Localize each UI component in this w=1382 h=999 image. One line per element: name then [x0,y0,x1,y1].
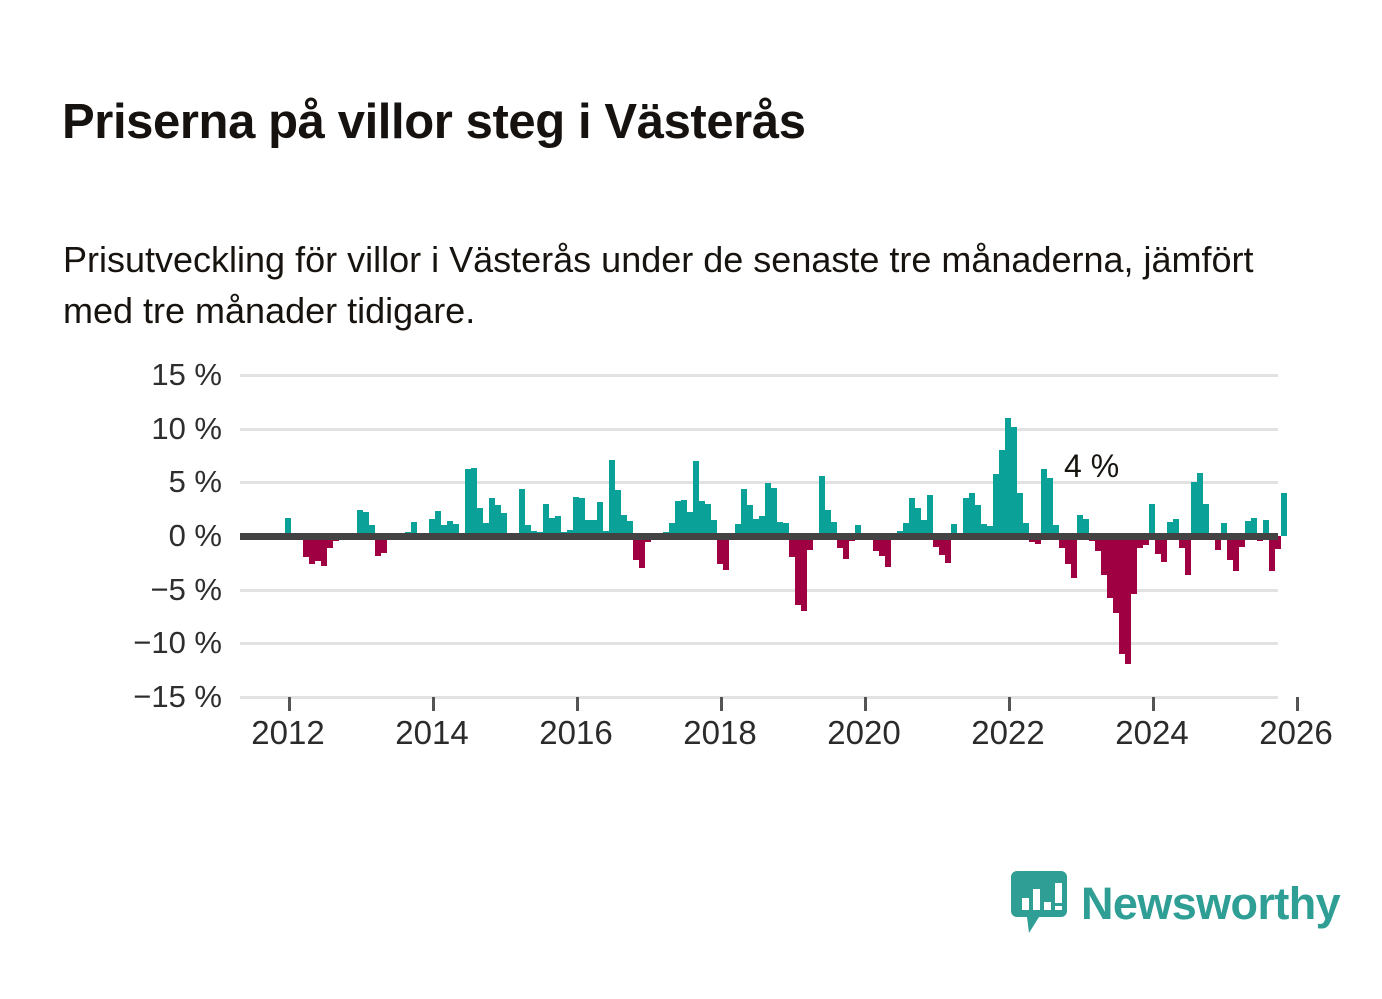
y-axis-tick-label: −15 % [92,679,222,715]
chart-bar [885,536,891,567]
chart-bar [945,536,951,563]
x-axis-tick-label: 2014 [395,714,468,752]
x-axis-tick-label: 2024 [1115,714,1188,752]
x-axis-tick [864,697,867,711]
x-axis-tick-label: 2026 [1259,714,1332,752]
bar-chart-speech-bubble-icon [1011,871,1067,935]
x-axis-tick-label: 2020 [827,714,900,752]
last-value-annotation: 4 % [1064,448,1119,485]
x-axis-tick [432,697,435,711]
gridline [240,696,1278,699]
y-axis-tick-label: 5 % [92,464,222,500]
x-axis-tick-label: 2012 [251,714,324,752]
x-axis-tick [1152,697,1155,711]
y-axis-tick-label: 10 % [92,411,222,447]
bar-chart: 15 %10 %5 %0 %−5 %−10 %−15 %201220142016… [0,0,1382,999]
x-axis-tick [288,697,291,711]
x-axis-tick [1296,697,1299,711]
chart-bar [1149,504,1155,536]
x-axis-tick-label: 2016 [539,714,612,752]
chart-bar [1185,536,1191,575]
gridline [240,428,1278,431]
gridline [240,481,1278,484]
x-axis-tick [720,697,723,711]
chart-plot-area [240,375,1278,697]
newsworthy-logo: Newsworthy [1011,871,1340,935]
chart-bar [1281,493,1287,536]
chart-bar [1203,504,1209,536]
newsworthy-wordmark: Newsworthy [1081,881,1340,926]
y-axis-tick-label: −10 % [92,625,222,661]
chart-bar [723,536,729,570]
x-axis-tick-label: 2018 [683,714,756,752]
y-axis-tick-label: 0 % [92,518,222,554]
chart-bar [1071,536,1077,578]
x-axis-tick [576,697,579,711]
infographic-page: Priserna på villor steg i Västerås Prisu… [0,0,1382,999]
gridline [240,374,1278,377]
chart-bar [927,495,933,536]
x-axis-tick-label: 2022 [971,714,1044,752]
x-axis-tick [1008,697,1011,711]
y-axis-tick-label: −5 % [92,572,222,608]
y-axis-tick-label: 15 % [92,357,222,393]
zero-axis-line [240,533,1278,540]
